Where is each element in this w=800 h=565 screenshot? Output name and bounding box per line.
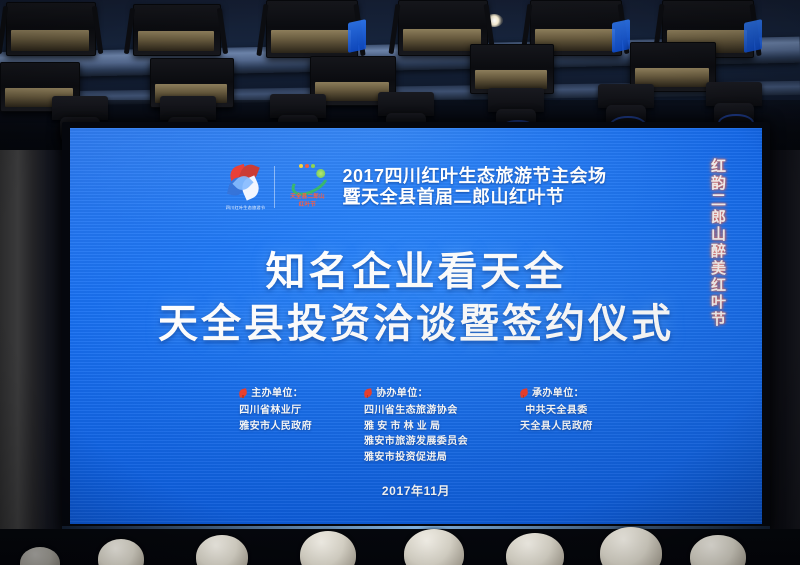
county-logo-line2: 红叶节 xyxy=(299,202,316,208)
county-logo-line1: 天全县二郎山 xyxy=(290,194,325,200)
organizer-unit: 天全县人民政府 xyxy=(520,419,593,435)
led-screen: 四川红叶生态旅游节 天全县二郎山 红叶节 2017四川红叶生态旅游节主会场 暨天… xyxy=(70,128,762,524)
audience-head xyxy=(300,531,356,565)
organizer-unit: 中共天全县委 xyxy=(520,403,593,419)
main-title-line-1: 知名企业看天全 xyxy=(70,246,762,298)
red-leaf-icon xyxy=(239,389,247,398)
organizer-unit: 雅安市投资促进局 xyxy=(364,450,468,466)
main-title-line-2: 天全县投资洽谈暨签约仪式 xyxy=(70,298,762,350)
audience-head xyxy=(20,547,60,565)
organizer-unit: 四川省林业厅 xyxy=(239,403,312,419)
header-line-2: 暨天全县首届二郎山红叶节 xyxy=(342,187,606,208)
stage-light-fixture xyxy=(470,44,552,92)
organizer-role: 主办单位： xyxy=(251,386,303,402)
red-leaf-icon xyxy=(364,389,372,398)
audience-head xyxy=(196,535,248,565)
screen-header: 四川红叶生态旅游节 天全县二郎山 红叶节 2017四川红叶生态旅游节主会场 暨天… xyxy=(70,162,762,212)
header-line-1: 2017四川红叶生态旅游节主会场 xyxy=(342,166,606,187)
audience-head xyxy=(404,529,464,565)
logo-group: 四川红叶生态旅游节 天全县二郎山 红叶节 xyxy=(225,162,330,212)
organizer-group: 主办单位： 四川省林业厅 雅安市人民政府 协办单位： 四川省生态旅游协会 雅安市… xyxy=(70,386,762,466)
event-date: 2017年11月 xyxy=(70,482,762,499)
organizer-block-host: 主办单位： 四川省林业厅 雅安市人民政府 xyxy=(239,386,312,466)
screen-header-text: 2017四川红叶生态旅游节主会场 暨天全县首届二郎山红叶节 xyxy=(342,166,606,208)
county-festival-logo-icon: 天全县二郎山 红叶节 xyxy=(284,162,330,212)
organizer-unit: 雅安市林业局 xyxy=(364,419,468,435)
organizer-block-coorganizer: 协办单位： 四川省生态旅游协会 雅安市林业局 雅安市旅游发展委员会 雅安市投资促… xyxy=(364,386,468,466)
organizer-role: 承办单位： xyxy=(532,386,584,402)
organizer-unit: 四川省生态旅游协会 xyxy=(364,403,468,419)
audience-head xyxy=(600,527,662,565)
organizer-role-row: 协办单位： xyxy=(364,386,468,402)
county-festival-logo-caption: 天全县二郎山 红叶节 xyxy=(284,193,330,209)
stage-light-fixture xyxy=(630,42,714,90)
stage-photo: 四川红叶生态旅游节 天全县二郎山 红叶节 2017四川红叶生态旅游节主会场 暨天… xyxy=(0,0,800,565)
main-title: 知名企业看天全 天全县投资洽谈暨签约仪式 xyxy=(70,246,762,350)
organizer-unit: 雅安市旅游发展委员会 xyxy=(364,434,468,450)
audience-row xyxy=(0,523,800,565)
organizer-role-row: 承办单位： xyxy=(520,386,593,402)
audience-head xyxy=(98,539,144,565)
stage-light-fixture xyxy=(266,0,356,56)
stage-light-fixture xyxy=(133,4,219,54)
audience-head xyxy=(690,535,746,565)
audience-head xyxy=(506,533,564,565)
red-leaf-icon xyxy=(520,389,528,398)
organizer-unit: 雅安市人民政府 xyxy=(239,419,312,435)
organizer-role: 协办单位： xyxy=(376,386,428,402)
festival-emblem-icon: 四川红叶生态旅游节 xyxy=(225,162,265,212)
organizer-role-row: 主办单位： xyxy=(239,386,312,402)
organizer-block-undertaker: 承办单位： 中共天全县委 天全县人民政府 xyxy=(520,386,593,466)
logo-divider xyxy=(274,166,275,208)
stage-light-fixture xyxy=(6,2,94,54)
festival-emblem-caption: 四川红叶生态旅游节 xyxy=(225,205,265,210)
